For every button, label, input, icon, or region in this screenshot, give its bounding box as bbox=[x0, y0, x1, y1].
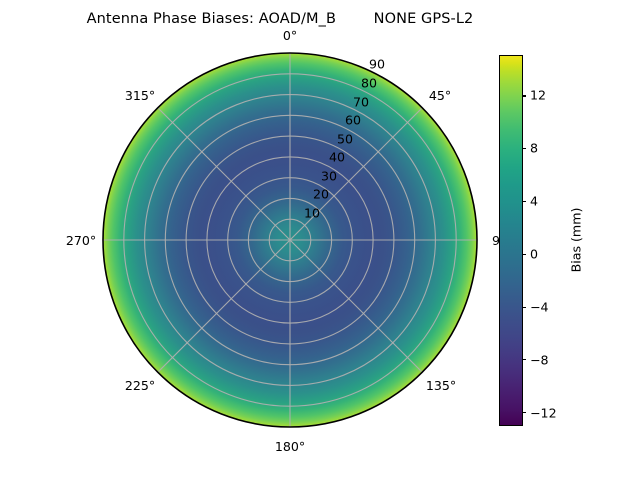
radial-tick-80: 80 bbox=[361, 76, 377, 91]
radial-tick-70: 70 bbox=[353, 95, 369, 110]
colorbar-tick-8 bbox=[522, 148, 526, 149]
radial-tick-60: 60 bbox=[345, 113, 361, 128]
colorbar-ticklabel-12: 12 bbox=[530, 87, 546, 102]
radial-tick-30: 30 bbox=[321, 169, 337, 184]
colorbar-gradient bbox=[499, 55, 523, 426]
colorbar-ticklabel-8: 8 bbox=[530, 140, 538, 155]
theta-tick-315: 315° bbox=[125, 88, 155, 103]
polar-plot-svg bbox=[103, 53, 477, 427]
radial-tick-50: 50 bbox=[337, 132, 353, 147]
figure-title: Antenna Phase Biases: AOAD/M_B NONE GPS-… bbox=[0, 11, 560, 27]
colorbar-ticklabel-m4: −4 bbox=[530, 299, 549, 314]
colorbar-tick-m8 bbox=[522, 359, 526, 360]
colorbar-ticklabel-m8: −8 bbox=[530, 352, 549, 367]
polar-axes[interactable] bbox=[103, 53, 477, 427]
radial-tick-90: 90 bbox=[369, 57, 385, 72]
colorbar-tick-4 bbox=[522, 201, 526, 202]
radial-tick-20: 20 bbox=[313, 187, 329, 202]
theta-tick-135: 135° bbox=[426, 378, 456, 393]
radial-tick-40: 40 bbox=[329, 150, 345, 165]
angular-gridlines bbox=[103, 53, 477, 427]
colorbar-tick-0 bbox=[522, 254, 526, 255]
theta-tick-225: 225° bbox=[125, 378, 155, 393]
theta-tick-270: 270° bbox=[66, 233, 96, 248]
theta-tick-45: 45° bbox=[429, 88, 451, 103]
theta-tick-0: 0° bbox=[283, 28, 297, 43]
colorbar[interactable]: 12 8 4 0 −4 −8 −12 bbox=[499, 55, 523, 426]
colorbar-axis-label: Bias (mm) bbox=[569, 208, 584, 273]
theta-tick-180: 180° bbox=[275, 439, 305, 454]
colorbar-tick-12 bbox=[522, 95, 526, 96]
colorbar-ticklabel-0: 0 bbox=[530, 246, 538, 261]
colorbar-ticklabel-4: 4 bbox=[530, 193, 538, 208]
colorbar-tick-m4 bbox=[522, 307, 526, 308]
colorbar-ticklabel-m12: −12 bbox=[530, 405, 557, 420]
colorbar-tick-m12 bbox=[522, 412, 526, 413]
figure-canvas: Antenna Phase Biases: AOAD/M_B NONE GPS-… bbox=[0, 0, 640, 480]
radial-tick-10: 10 bbox=[304, 206, 320, 221]
